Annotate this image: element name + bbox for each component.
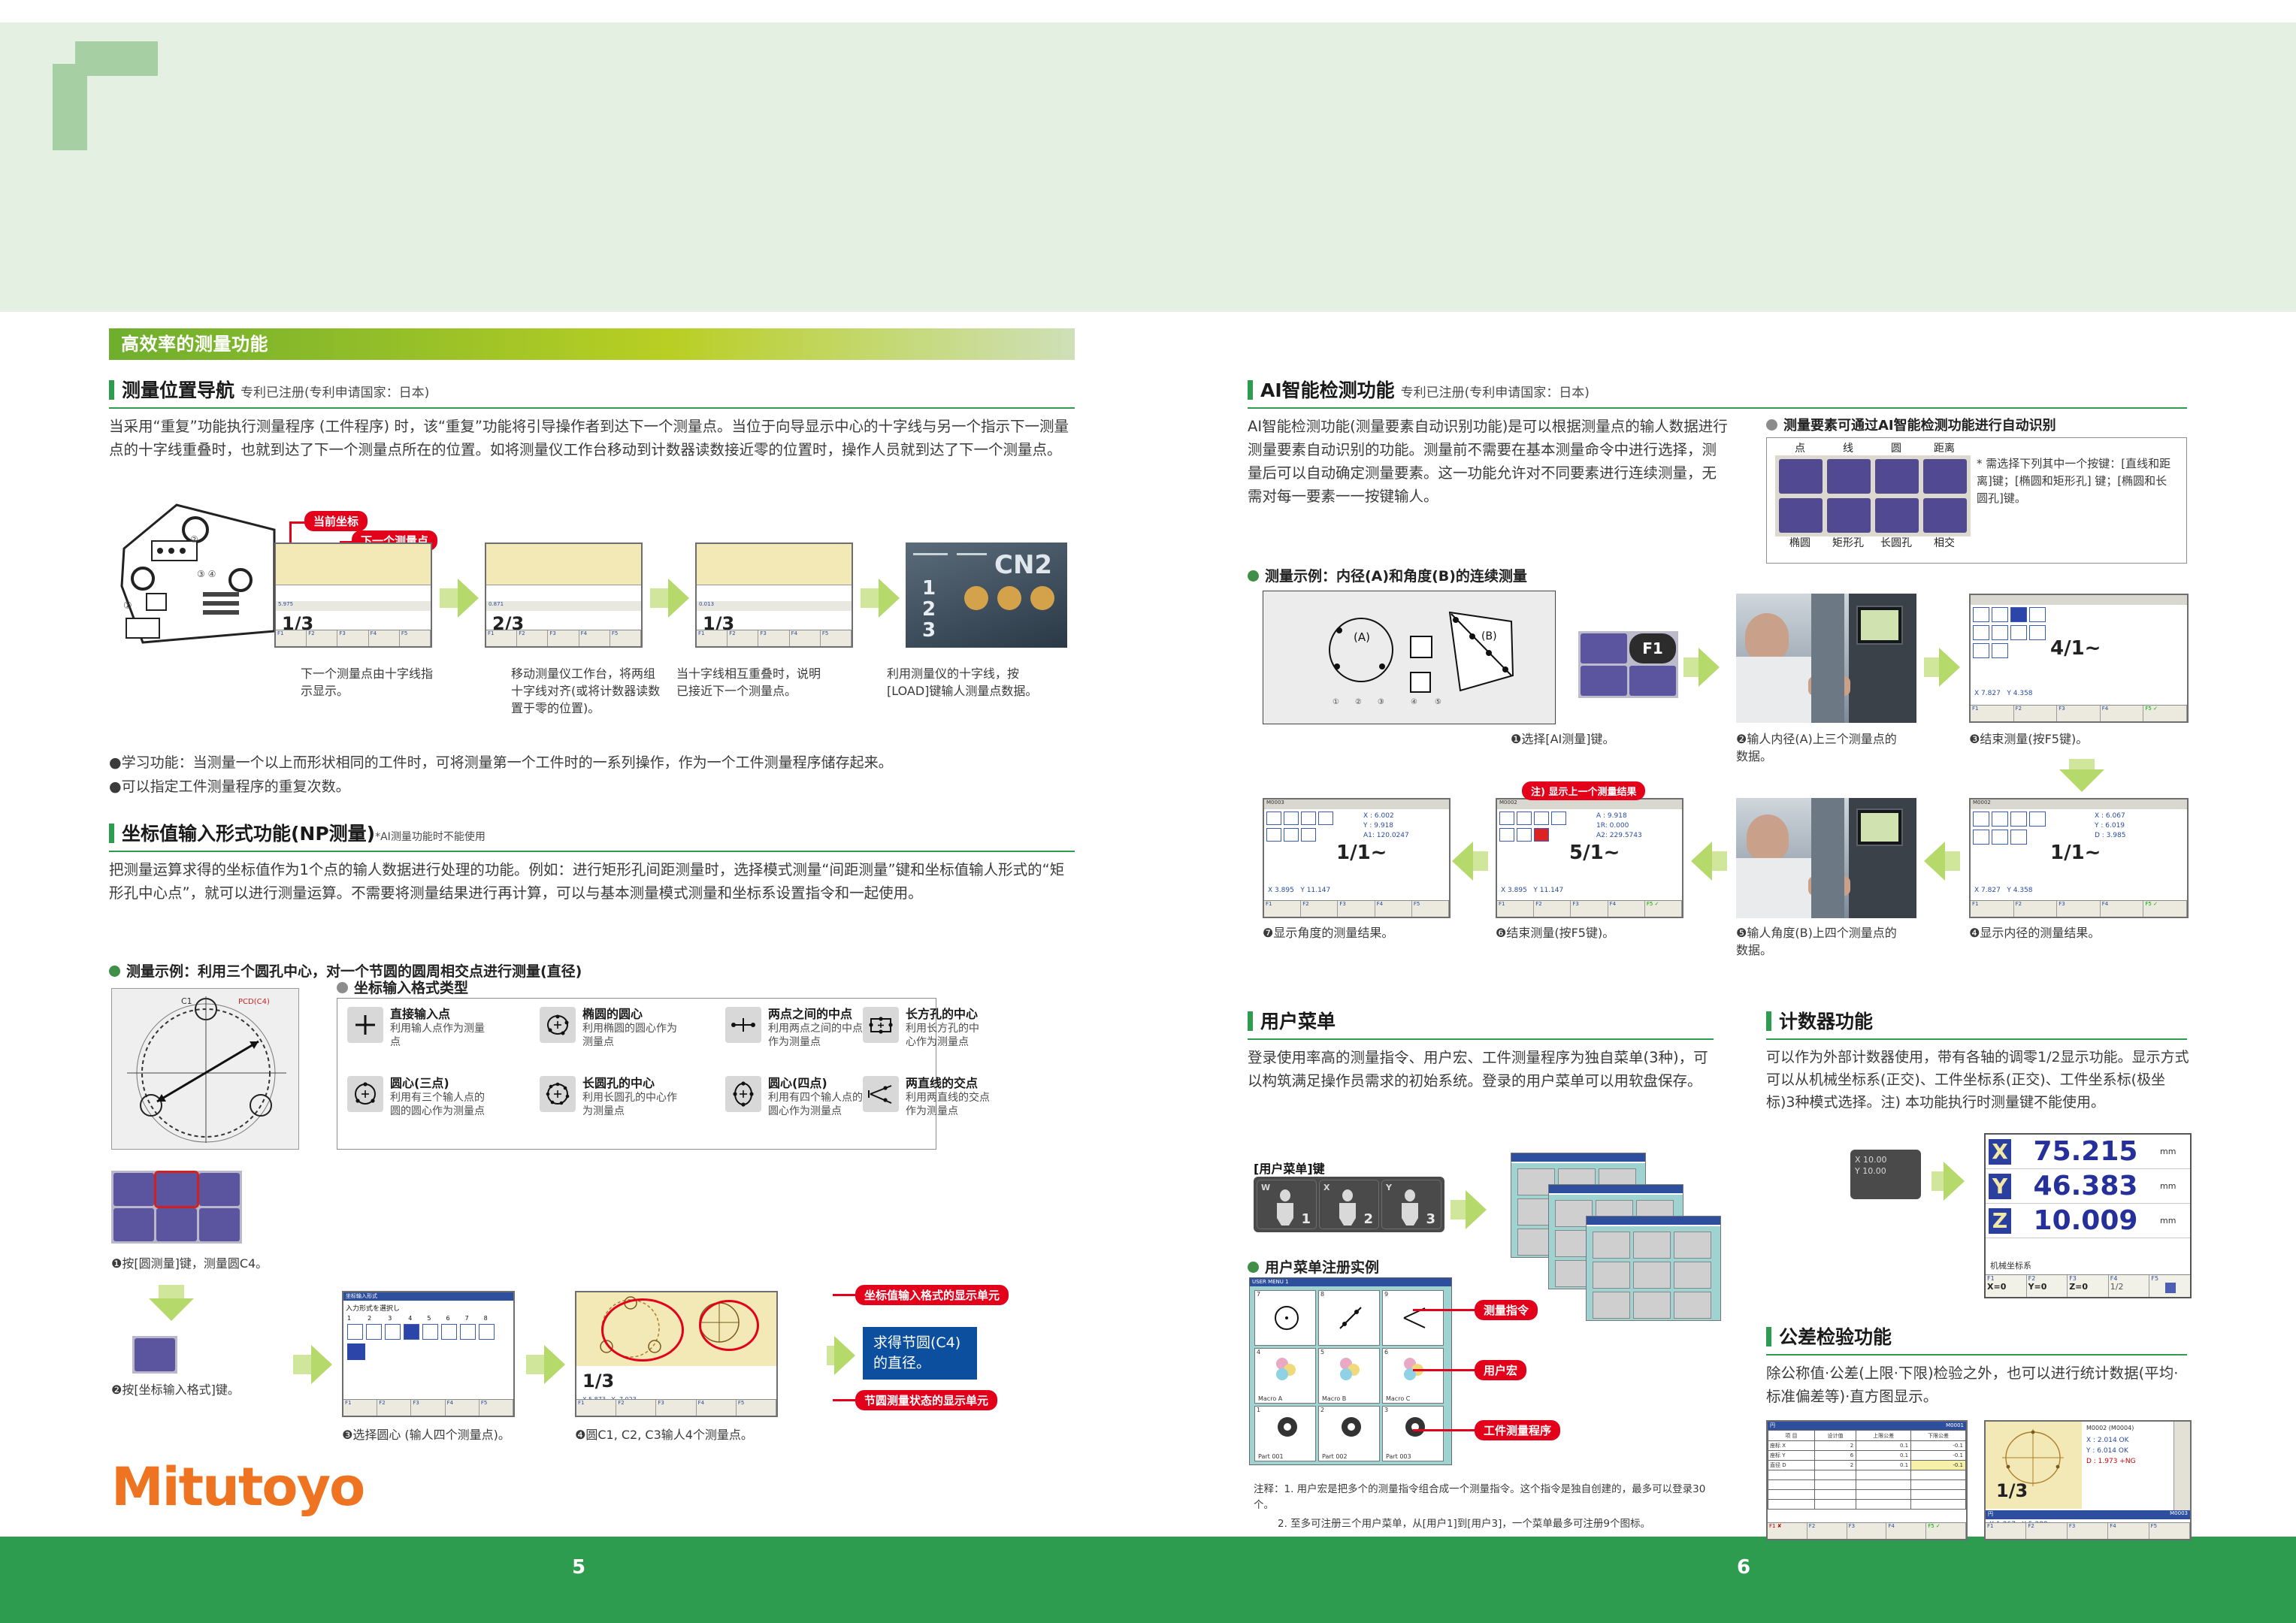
screen3-x: 0.013 — [699, 601, 714, 607]
tolerance-bottom-title: 円 — [1988, 1511, 1993, 1517]
user-menu-registration-screen: USER MENU 1 7 8 9 4 Macro A 5 Macro B 6 … — [1249, 1277, 1452, 1465]
ai-step-caption-4: ❹显示内径的测量结果。 — [1969, 924, 2142, 941]
svg-text:③: ③ — [1378, 698, 1384, 706]
elem-label-distance: 距离 — [1922, 440, 1966, 455]
dro-axis-y: Y — [1989, 1174, 2011, 1199]
arrow-ai-5 — [1452, 842, 1488, 881]
ai-screen4-readout-1: X : 6.067 — [2095, 811, 2125, 821]
user-menu-note-2: 2. 至多可注册三个用户菜单，从[用户1]到[用户3]，一个菜单最多可注册9个图… — [1278, 1516, 1721, 1532]
heading-counter: 计数器功能 — [1766, 1007, 2187, 1040]
dro-value-x: 75.215 — [2011, 1136, 2160, 1167]
element-key-line[interactable] — [1827, 459, 1871, 494]
tolerance-header-row: 项 目 设计值 上限公差 下限公差 — [1768, 1431, 1966, 1441]
dro-row-z: Z 10.009 mm — [1986, 1204, 2190, 1238]
ai-screen7-readout-3: A1: 120.0247 — [1363, 831, 1409, 841]
ai-screen4-x: 7.827 — [1981, 887, 2001, 894]
nav-screen-2: 0.871 2/3 F1F2F3F4F5 — [485, 543, 643, 648]
np-step-caption-1: ❶按[圆测量]键，测量圆C4。 — [111, 1255, 359, 1272]
svg-text:①: ① — [1333, 698, 1339, 706]
table-row: 座标 X 2 0.1 -0.1 — [1768, 1441, 1966, 1451]
counter-dro-display: X 75.215 mm Y 46.383 mm Z 10.009 mm 机械坐标… — [1984, 1133, 2192, 1298]
ai-screen-5: M0002 A : 9.918 1R: 0.000 A2: 229.5743 5… — [1496, 798, 1683, 918]
ai-screen4-id: M0002 — [1973, 799, 1991, 805]
ai-screen-4: M0002 X : 6.067 Y : 6.019 D : 3.985 1/1~… — [1969, 798, 2189, 918]
ai-screen-3: 4/1~ X 7.827 Y 4.358 F1F2F3F4F5 ✓ — [1969, 594, 2189, 723]
nav-photo-4: CN2 1 2 3 — [906, 543, 1067, 648]
keypad-key-circle-measure[interactable] — [156, 1173, 197, 1206]
cross-icon — [347, 1007, 383, 1043]
ai-step-caption-7: ❼显示角度的测量结果。 — [1263, 924, 1424, 941]
menu-icon-macro-a[interactable]: 4 Macro A — [1254, 1348, 1316, 1404]
arrow-ai-3 — [1924, 842, 1960, 881]
heading-measurement-navigation: 测量位置导航专利已注册(专利申请国家：日本) — [109, 376, 1075, 409]
counter-key-y: Y 10.00 — [1855, 1165, 1916, 1177]
slot-center-icon — [540, 1076, 576, 1112]
tolerance-bottom-id: M0003 — [2170, 1510, 2190, 1516]
keypad-key-5[interactable] — [156, 1208, 197, 1241]
ai-key-a[interactable] — [1581, 666, 1627, 696]
patent-note: 专利已注册(专利申请国家：日本) — [240, 385, 429, 400]
type-title: 长圆孔的中心 — [582, 1076, 679, 1091]
type-item-midpoint: 两点之间的中点 利用两点之间的中点作为测量点 — [725, 1007, 864, 1049]
heading-coordinate-input: 坐标值输入形式功能(NP测量)*AI测量功能时不能使用 — [109, 819, 1075, 852]
user-menu-example-head: 用户菜单注册实例 — [1248, 1256, 1379, 1277]
dro-row-x: X 75.215 mm — [1986, 1135, 2190, 1169]
page-number-right: 6 — [1721, 1551, 1766, 1584]
circle-4pt-icon — [725, 1076, 761, 1112]
photo-label-cn2: CN2 — [994, 550, 1052, 580]
menu-icon-line[interactable]: 8 — [1318, 1290, 1380, 1346]
type-desc: 利用长方孔的中心作为测量点 — [906, 1022, 983, 1049]
dro-value-y: 46.383 — [2011, 1171, 2160, 1201]
arrow-2 — [650, 579, 689, 618]
svg-text:②: ② — [1355, 698, 1362, 706]
callout-measure-command: 测量指令 — [1475, 1300, 1538, 1320]
section2-paragraph: 把测量运算求得的坐标值作为1个点的输人数据进行处理的功能。例如：进行矩形孔间距测… — [109, 858, 1078, 905]
ai-key-f1[interactable]: F1 — [1629, 633, 1676, 663]
ai-paragraph: AI智能检测功能(测量要素自动识别功能)是可以根据测量点的输人数据进行测量要素自… — [1248, 415, 1729, 508]
ai-step-caption-6: ❻结束测量(按F5键)。 — [1496, 924, 1657, 941]
type-title: 圆心(四点) — [768, 1076, 864, 1091]
dro-axis-x: X — [1989, 1139, 2011, 1165]
screen2-x: 0.871 — [489, 601, 504, 607]
ai-screen7-readout-1: X : 6.002 — [1363, 811, 1409, 821]
section1-note-1: ●学习功能：当测量一个以上而形状相同的工件时，可将测量第一个工件时的一系列操作，… — [109, 751, 1078, 774]
elem-label-intersect: 相交 — [1922, 535, 1966, 550]
heading-text-tolerance: 公差检验功能 — [1779, 1326, 1892, 1348]
arrow-ai-4 — [1691, 842, 1727, 881]
type-desc: 利用有四个输人点的圆心作为测量点 — [768, 1091, 864, 1118]
tol-fkey-4[interactable]: F4 — [1888, 1523, 1894, 1529]
callout-current-coordinate: 当前坐标 — [304, 511, 368, 531]
nav-screen-1: 5.975 1/3 F1F2F3F4F5 — [274, 543, 432, 648]
tol-fkey-2[interactable]: F2 — [1809, 1523, 1815, 1529]
ai-f1-key-block[interactable]: F1 — [1578, 631, 1678, 698]
callout-leader-1 — [289, 521, 306, 524]
element-key-circle[interactable] — [1875, 459, 1919, 494]
ai-key-f1-label: F1 — [1642, 639, 1663, 657]
page-number-left: 5 — [556, 1551, 601, 1584]
type-item-direct-point: 直接输入点 利用输人点作为测量点 — [347, 1007, 490, 1049]
photo-digit-2: 2 — [922, 598, 936, 621]
step-caption-1: 下一个测量点由十字线指示显示。 — [301, 665, 443, 700]
tolerance-result-screen: 1/3 M0002 (M0004) X : 2.014 OK Y : 6.014… — [1984, 1420, 2192, 1540]
ai-element-grid[interactable] — [1775, 455, 1971, 536]
photo-digit-1: 1 — [922, 577, 936, 600]
ai-screen5-fraction: 5/1~ — [1569, 842, 1620, 864]
ai-screen5-readout-1: A : 9.918 — [1596, 811, 1642, 821]
arrow-np-2 — [526, 1345, 565, 1384]
callout-format-unit: 坐标值输入格式的显示单元 — [855, 1285, 1009, 1305]
ai-callout-note: 注) 显示上一个测量结果 — [1522, 781, 1645, 800]
elem-label-ellipse: 椭圆 — [1778, 535, 1822, 550]
dro-unit-x: mm — [2160, 1147, 2190, 1156]
highlight-ring-circle — [699, 1300, 759, 1351]
heading-user-menu: 用户菜单 — [1248, 1007, 1714, 1040]
arrow-ai-1 — [1683, 648, 1720, 687]
nav-screen-3: 0.013 1/3 F1F2F3F4F5 — [695, 543, 853, 648]
callout-status-unit: 节圆测量状态的显示单元 — [855, 1390, 997, 1410]
menu-icon-intersect[interactable]: 9 — [1382, 1290, 1444, 1346]
elem-label-line: 线 — [1826, 440, 1870, 455]
type-desc: 利用椭圆的圆心作为测量点 — [582, 1022, 679, 1049]
user-menu-example-text: 用户菜单注册实例 — [1265, 1259, 1379, 1276]
callout-pcd-text: 求得节圆(C4) 的直径。 — [873, 1334, 960, 1371]
svg-text:④: ④ — [1411, 698, 1417, 706]
user-menu-key-1[interactable]: W 1 — [1257, 1180, 1317, 1229]
keypad-key-coordinate-format[interactable] — [135, 1338, 175, 1371]
type-title: 长方孔的中心 — [906, 1007, 983, 1022]
heading-ai-detection: AI智能检测功能专利已注册(专利申请国家：日本) — [1248, 376, 2187, 409]
menu-icon-part-2[interactable]: 2 Part 002 — [1318, 1406, 1380, 1461]
th-design: 设计值 — [1814, 1431, 1856, 1441]
type-desc: 利用两点之间的中点作为测量点 — [768, 1022, 864, 1049]
heading-text-user-menu: 用户菜单 — [1260, 1011, 1336, 1032]
user-menu-key-label: [用户菜单]键 — [1254, 1159, 1325, 1177]
svg-text:(A): (A) — [1354, 630, 1370, 644]
ai-screen7-fraction: 1/1~ — [1336, 842, 1387, 864]
step-caption-2: 移动测量仪工作台，将两组十字线对齐(或将计数器读数置于零的位置)。 — [511, 665, 661, 717]
np-result-fraction: 1/3 — [582, 1371, 614, 1392]
ai-screen5-readout-3: A2: 229.5743 — [1596, 831, 1642, 841]
tolerance-fraction: 1/3 — [1996, 1480, 2028, 1501]
dro-fkey-4[interactable]: F4 — [2110, 1275, 2118, 1282]
tol-fkey-1[interactable]: F1 — [1769, 1523, 1775, 1529]
ai-elements-note: * 需选择下列其中一个按键：[直线和距离]键；[椭圆和矩形孔] 键；[椭圆和长圆… — [1977, 455, 2178, 507]
ellipse-center-icon — [540, 1007, 576, 1043]
tolerance-table-id: M0001 — [1944, 1422, 1966, 1430]
arrow-np-3 — [827, 1336, 855, 1375]
type-item-circle-3pt: 圆心(三点) 利用有三个输人点的圆的圆心作为测量点 — [347, 1076, 490, 1118]
elem-label-circle: 圆 — [1874, 440, 1918, 455]
tol-fkey-5[interactable]: F5 — [1928, 1523, 1934, 1529]
tol-fkey-3[interactable]: F3 — [1849, 1523, 1855, 1529]
np-step-caption-4: ❹圆C1, C2, C3输人4个测量点。 — [575, 1426, 815, 1443]
ai-step-caption-2: ❷输人内径(A)上三个测量点的数据。 — [1736, 730, 1898, 765]
ai-step-caption-1: ❶选择[AI测量]键。 — [1511, 730, 1661, 748]
type-item-slot-center: 长圆孔的中心 利用长圆孔的中心作为测量点 — [540, 1076, 679, 1118]
np-input-format-screen: 坐标输入形式 入力形式を選択し 1234 5678 F1F2F3F4F5 — [342, 1291, 515, 1417]
ai-screen5-y: 11.147 — [1540, 887, 1564, 894]
table-row: 座标 Y 6 0.1 -0.1 — [1768, 1451, 1966, 1461]
callout-leader-part — [1413, 1429, 1481, 1431]
brand-logo: Mitutoyo — [111, 1456, 364, 1518]
ai-screen5-id: M0002 — [1499, 799, 1517, 805]
arrow-ai-2 — [1924, 648, 1960, 687]
heading-text-2: 坐标值输入形式功能(NP测量) — [122, 823, 375, 845]
type-title: 椭圆的圆心 — [582, 1007, 679, 1022]
coordinate-format-key[interactable] — [132, 1336, 177, 1374]
elem-label-slot: 长圆孔 — [1874, 535, 1918, 550]
tolerance-paragraph: 除公称值·公差(上限·下限)检验之外，也可以进行统计数据(平均·标准偏差等)·直… — [1766, 1362, 2191, 1408]
arrow-counter — [1931, 1162, 1965, 1201]
counter-key-x: X 10.00 — [1855, 1154, 1916, 1165]
arrow-3 — [861, 579, 900, 618]
tolerance-table-screen: 円 M0001 项 目 设计值 上限公差 下限公差 座标 X 2 0.1 -0.… — [1766, 1420, 1968, 1540]
type-desc: 利用输人点作为测量点 — [390, 1022, 490, 1049]
dro-fkey-2[interactable]: F2 — [2028, 1275, 2036, 1282]
th-item: 项 目 — [1768, 1431, 1815, 1441]
arrow-np-1 — [293, 1345, 332, 1384]
step-caption-4: 利用测量仪的十字线，按[LOAD]键输人测量点数据。 — [887, 665, 1045, 700]
dro-unit-z: mm — [2160, 1216, 2190, 1226]
type-desc: 利用两直线的交点作为测量点 — [906, 1091, 991, 1118]
type-title: 两直线的交点 — [906, 1076, 991, 1091]
ai-key-b[interactable] — [1629, 666, 1676, 696]
ai-screen7-readout-2: Y : 9.918 — [1363, 821, 1409, 831]
keypad-key-3[interactable] — [199, 1173, 240, 1206]
user-menu-key-3[interactable]: Y 3 — [1381, 1180, 1441, 1229]
photo-digit-3: 3 — [922, 619, 936, 642]
type-desc: 利用长圆孔的中心作为测量点 — [582, 1091, 679, 1118]
workpiece-outline-drawing: ① ② ③ ④ — [113, 496, 301, 657]
callout-part-program: 工件测量程序 — [1475, 1420, 1560, 1440]
tolerance-table-title: 円 — [1768, 1422, 1775, 1430]
dro-mode: 机械坐标系 — [1990, 1259, 2031, 1271]
ai-elements-head-text: 测量要素可通过AI智能检测功能进行自动识别 — [1783, 418, 2056, 434]
dro-axis-z: Z — [1989, 1208, 2011, 1234]
ai-step-caption-5: ❺输人角度(B)上四个测量点的数据。 — [1736, 924, 1898, 959]
callout-leader-cmd — [1413, 1309, 1481, 1311]
ai-screen5-x: 3.895 — [1508, 887, 1527, 894]
top-green-band — [0, 0, 2296, 312]
th-lower: 下限公差 — [1911, 1431, 1966, 1441]
type-item-line-intersect: 两直线的交点 利用两直线的交点作为测量点 — [863, 1076, 991, 1118]
callout-leader-macro — [1413, 1369, 1481, 1371]
arrow-1 — [440, 579, 479, 618]
ai-screen7-y: 11.147 — [1307, 887, 1331, 894]
np-screen-prompt: 入力形式を選択し — [346, 1303, 400, 1313]
ai-operator-photo-2 — [1736, 798, 1916, 918]
element-key-ellipse[interactable] — [1779, 498, 1823, 533]
top-white-strip — [0, 0, 2296, 23]
ai-screen5-readout-2: 1R: 0.000 — [1596, 821, 1642, 831]
tolerance-result-line-1: X : 2.014 OK — [2086, 1435, 2136, 1446]
arrow-ai-down-1 — [2052, 759, 2112, 792]
user-menu-paragraph: 登录使用率高的测量指令、用户宏、工件测量程序为独自菜单(3种)，可以构筑满足操作… — [1248, 1046, 1721, 1093]
ai-screen-7: M0003 X : 6.002 Y : 9.918 A1: 120.0247 1… — [1263, 798, 1451, 918]
arrow-user-menu — [1451, 1190, 1487, 1229]
type-item-rect-hole-center: 长方孔的中心 利用长方孔的中心作为测量点 — [863, 1007, 983, 1049]
elem-label-rect-hole: 矩形孔 — [1826, 535, 1870, 550]
section1-paragraph: 当采用“重复”功能执行测量程序 (工件程序) 时，该“重复”功能将引导操作者到达… — [109, 415, 1078, 461]
ai-operator-photo-1 — [1736, 594, 1916, 723]
counter-key[interactable]: X 10.00 Y 10.00 — [1850, 1150, 1921, 1199]
tolerance-result-line-3: D : 1.973 +NG — [2086, 1456, 2136, 1467]
keypad-key-4[interactable] — [113, 1208, 154, 1241]
type-item-ellipse-center: 椭圆的圆心 利用椭圆的圆心作为测量点 — [540, 1007, 679, 1049]
menu-icon-part-3[interactable]: 3 Part 003 — [1382, 1406, 1444, 1461]
midpoint-icon — [725, 1007, 761, 1043]
svg-text:C1: C1 — [181, 996, 192, 1006]
highlight-ring-pcd — [601, 1298, 684, 1362]
keypad-key-1[interactable] — [113, 1173, 154, 1206]
type-title: 圆心(三点) — [390, 1076, 490, 1091]
pitch-circle-diagram: C1 PCD(C4) — [111, 988, 299, 1150]
counter-paragraph: 可以作为外部计数器使用，带有各轴的调零1/2显示功能。显示方式可以从机械坐标系(… — [1766, 1046, 2191, 1114]
ai-screen3-x: 7.827 — [1981, 690, 2001, 697]
patent-note-ai: 专利已注册(专利申请国家：日本) — [1401, 385, 1590, 400]
ai-elements-head: 测量要素可通过AI智能检测功能进行自动识别 — [1766, 415, 2056, 434]
ai-screen4-readout-2: Y : 6.019 — [2095, 821, 2125, 831]
ai-screen7-x: 3.895 — [1275, 887, 1294, 894]
dro-fkey-5[interactable]: F5 — [2151, 1275, 2158, 1282]
svg-text:⑤: ⑤ — [1435, 698, 1441, 706]
type-title: 两点之间的中点 — [768, 1007, 864, 1022]
element-key-intersect[interactable] — [1923, 498, 1967, 533]
types-head-text: 坐标输入格式类型 — [354, 980, 468, 996]
element-key-distance[interactable] — [1923, 459, 1967, 494]
screen1-x: 5.975 — [278, 601, 293, 607]
tolerance-result-line-2: Y : 6.014 OK — [2086, 1446, 2136, 1456]
svg-text:PCD(C4): PCD(C4) — [238, 998, 270, 1006]
ai-example-head: 测量示例：内径(A)和角度(B)的连续测量 — [1248, 565, 1527, 585]
type-desc: 利用有三个输人点的圆的圆心作为测量点 — [390, 1091, 490, 1118]
element-key-point[interactable] — [1779, 459, 1823, 494]
svg-text:①: ① — [123, 600, 132, 612]
keypad-key-6[interactable] — [199, 1208, 240, 1241]
element-key-rect-hole[interactable] — [1827, 498, 1871, 533]
callout-user-macro: 用户宏 — [1475, 1360, 1526, 1380]
svg-text:(B): (B) — [1481, 630, 1497, 642]
menu-icon-part-1[interactable]: 1 Part 001 — [1254, 1406, 1316, 1461]
heading-text-counter: 计数器功能 — [1779, 1011, 1873, 1032]
np-step-caption-3: ❸选择圆心 (输人四个测量点)。 — [342, 1426, 567, 1443]
menu-icon-macro-c[interactable]: 6 Macro C — [1382, 1348, 1444, 1404]
user-menu-key-2[interactable]: X 2 — [1319, 1180, 1379, 1229]
table-row: 直径 D 2 0.1 -0.1 — [1768, 1461, 1966, 1470]
ai-screen3-y: 4.358 — [2013, 690, 2033, 697]
ai-example-text: 测量示例：内径(A)和角度(B)的连续测量 — [1265, 568, 1527, 585]
ai-step-caption-3: ❸结束测量(按F5键)。 — [1969, 730, 2142, 748]
callout-pcd-result: 求得节圆(C4) 的直径。 — [863, 1327, 977, 1380]
dro-fkey-3[interactable]: F3 — [2069, 1275, 2077, 1282]
section1-note-2: ●可以指定工件测量程序的重复次数。 — [109, 775, 1078, 798]
ai-screen4-y: 4.358 — [2013, 887, 2033, 894]
type-item-circle-4pt: 圆心(四点) 利用有四个输人点的圆心作为测量点 — [725, 1076, 864, 1118]
ai-screen4-readout-3: D : 3.985 — [2095, 831, 2125, 841]
dro-fkey-1[interactable]: F1 — [1987, 1275, 1995, 1282]
heading-tolerance: 公差检验功能 — [1766, 1322, 2187, 1356]
th-upper: 上限公差 — [1856, 1431, 1911, 1441]
heading-text: 测量位置导航 — [122, 379, 234, 401]
type-title: 直接输入点 — [390, 1007, 490, 1022]
types-head: 坐标输入格式类型 — [337, 977, 468, 997]
dro-unit-y: mm — [2160, 1181, 2190, 1191]
tolerance-result-id: M0002 (M0004) — [2086, 1425, 2134, 1431]
dro-row-y: Y 46.383 mm — [1986, 1169, 2190, 1204]
rect-hole-center-icon — [863, 1007, 899, 1043]
bottom-green-band — [0, 1537, 2296, 1623]
circle-3pt-icon — [347, 1076, 383, 1112]
corner-mark-decoration — [53, 41, 158, 150]
svg-text:②: ② — [190, 534, 198, 545]
svg-text:③ ④: ③ ④ — [197, 569, 216, 579]
measurement-keypad[interactable] — [111, 1171, 242, 1244]
heading-text-ai: AI智能检测功能 — [1260, 379, 1395, 401]
dro-value-z: 10.009 — [2011, 1205, 2160, 1236]
ai-screen4-fraction: 1/1~ — [2050, 842, 2101, 864]
ai-screen3-fraction: 4/1~ — [2050, 637, 2101, 660]
elem-label-point: 点 — [1778, 440, 1822, 455]
np-screen-title: 坐标输入形式 — [343, 1292, 513, 1301]
arrow-down-np — [141, 1285, 201, 1321]
ai-note-sup: *AI测量功能时不能使用 — [375, 831, 486, 843]
user-menu-screen-title: USER MENU 1 — [1250, 1278, 1451, 1286]
element-key-slot[interactable] — [1875, 498, 1919, 533]
ai-screen7-id: M0003 — [1266, 799, 1284, 805]
menu-icon-circle[interactable]: 7 — [1254, 1290, 1316, 1346]
line-intersect-icon — [863, 1076, 899, 1112]
step-caption-3: 当十字线相互重叠时，说明已接近下一个测量点。 — [676, 665, 823, 700]
user-menu-screen-1 — [1586, 1216, 1721, 1321]
user-menu-note-1: 注释：1. 用户宏是把多个的测量指令组合成一个测量指令。这个指令是独自创建的，最… — [1254, 1482, 1720, 1513]
menu-icon-macro-b[interactable]: 5 Macro B — [1318, 1348, 1380, 1404]
user-menu-key-row[interactable]: W 1 X 2 Y 3 — [1254, 1177, 1444, 1232]
ai-measurement-diagram: (A) (B) ①② ③④ ⑤ — [1263, 591, 1556, 724]
ai-key-face[interactable] — [1581, 633, 1627, 663]
section-banner: 高效率的测量功能 — [109, 328, 1075, 360]
